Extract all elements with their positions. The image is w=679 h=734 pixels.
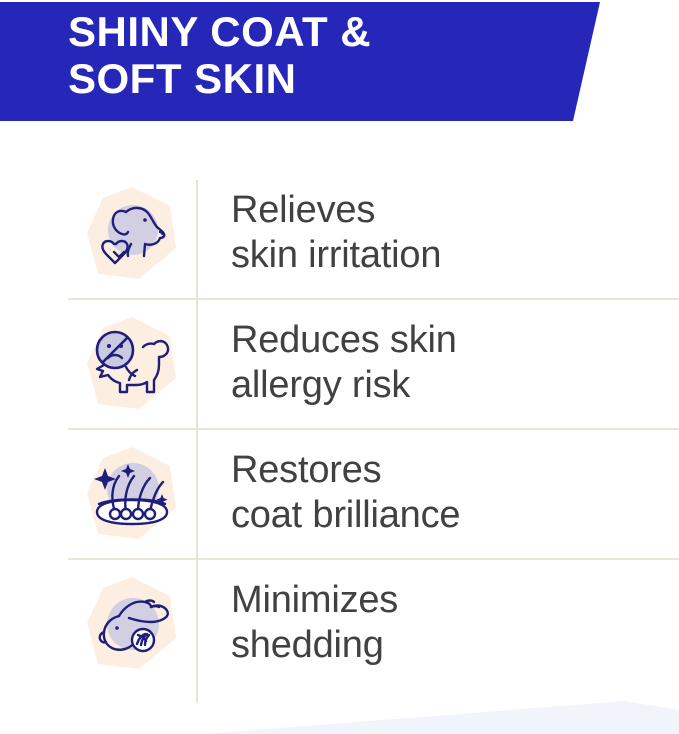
dog-head-heart-icon [68,182,196,284]
scratching-dog-no-allergy-icon [68,312,196,414]
benefit-row: Relieves skin irritation [0,168,679,298]
benefit-row: Reduces skin allergy risk [0,298,679,428]
benefit-label: Relieves skin irritation [231,188,441,278]
benefit-row: Restores coat brilliance [0,428,679,558]
page-title: SHINY COAT & SOFT SKIN [68,8,371,102]
benefit-label: Minimizes shedding [231,578,398,668]
benefit-label: Restores coat brilliance [231,448,460,538]
benefits-list: Relieves skin irritation [0,168,679,688]
hair-follicles-shine-icon [68,442,196,544]
benefit-label: Reduces skin allergy risk [231,318,457,408]
benefit-row: Minimizes shedding [0,558,679,688]
hand-petting-dog-shedding-icon [68,572,196,674]
